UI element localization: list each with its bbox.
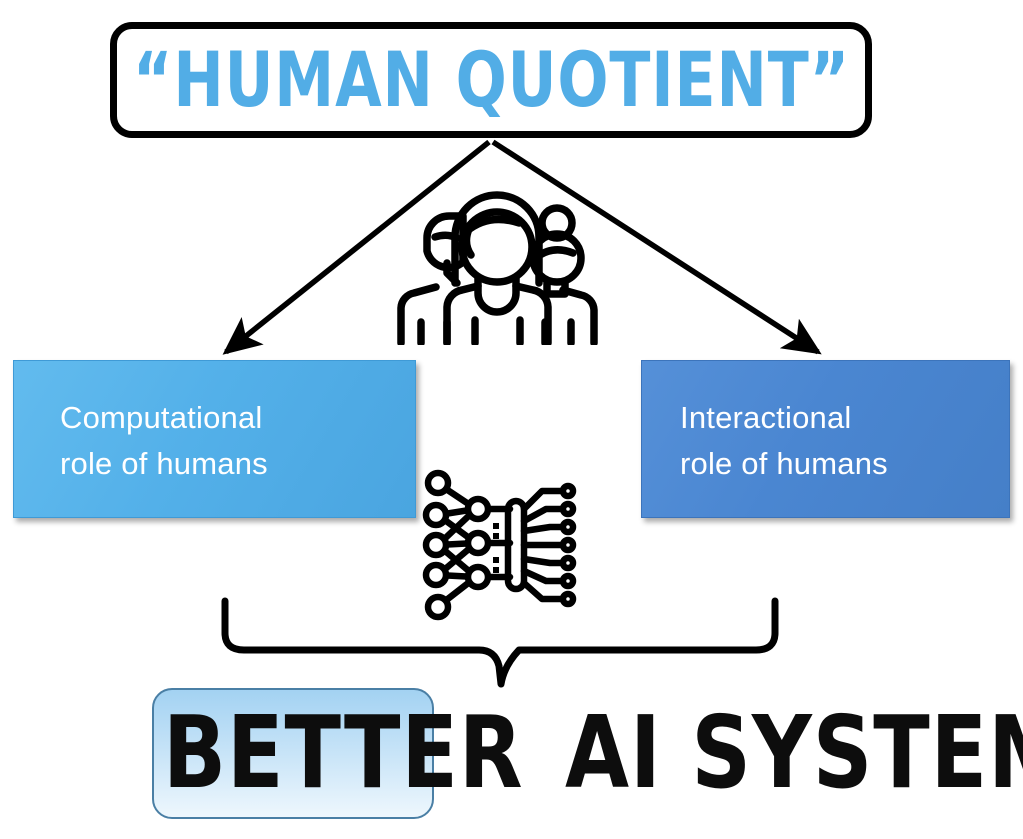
- conclusion-text: BETTER AI SYSTEMS: [163, 694, 1023, 812]
- branch-label-line1: Interactional: [680, 395, 991, 442]
- branch-box-computational[interactable]: Computational role of humans: [13, 360, 416, 518]
- conclusion-highlighted-word: BETTER: [163, 703, 523, 803]
- diagram-canvas: “HUMAN QUOTIENT”: [0, 0, 1023, 839]
- branch-label-line1: Computational: [60, 395, 397, 442]
- neural-network-icon: [418, 465, 583, 625]
- conclusion-rest-text: AI SYSTEMS: [565, 703, 1023, 803]
- page-title: “HUMAN QUOTIENT”: [132, 42, 849, 118]
- group-of-people-icon: [385, 165, 610, 345]
- title-box: “HUMAN QUOTIENT”: [110, 22, 872, 138]
- branch-label-line2: role of humans: [60, 441, 397, 488]
- branch-label-line2: role of humans: [680, 441, 991, 488]
- branch-box-interactional[interactable]: Interactional role of humans: [641, 360, 1010, 518]
